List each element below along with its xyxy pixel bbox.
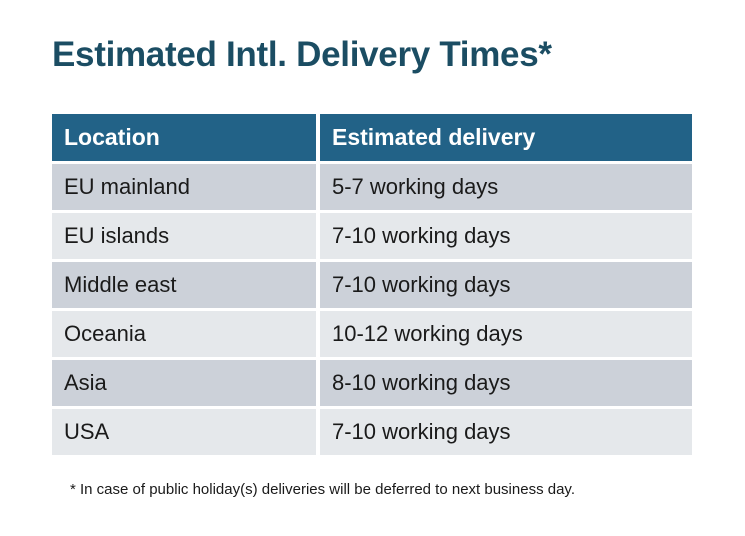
cell-estimated-delivery: 10-12 working days: [320, 311, 692, 357]
table-row: EU islands 7-10 working days: [52, 213, 692, 259]
cell-estimated-delivery: 5-7 working days: [320, 164, 692, 210]
cell-estimated-delivery: 7-10 working days: [320, 409, 692, 455]
cell-estimated-delivery: 7-10 working days: [320, 262, 692, 308]
delivery-times-table: Location Estimated delivery EU mainland …: [52, 114, 692, 455]
table-row: USA 7-10 working days: [52, 409, 692, 455]
cell-location: EU islands: [52, 213, 316, 259]
cell-location: Middle east: [52, 262, 316, 308]
cell-location: Asia: [52, 360, 316, 406]
delivery-times-page: Estimated Intl. Delivery Times* Location…: [0, 0, 745, 536]
cell-location: EU mainland: [52, 164, 316, 210]
cell-estimated-delivery: 8-10 working days: [320, 360, 692, 406]
footnote: * In case of public holiday(s) deliverie…: [70, 481, 575, 498]
cell-estimated-delivery: 7-10 working days: [320, 213, 692, 259]
cell-location: USA: [52, 409, 316, 455]
table-row: EU mainland 5-7 working days: [52, 164, 692, 210]
cell-location: Oceania: [52, 311, 316, 357]
page-title: Estimated Intl. Delivery Times*: [52, 36, 552, 75]
column-header-estimated-delivery: Estimated delivery: [320, 114, 692, 161]
table-row: Asia 8-10 working days: [52, 360, 692, 406]
table-row: Oceania 10-12 working days: [52, 311, 692, 357]
column-header-location: Location: [52, 114, 316, 161]
table-header-row: Location Estimated delivery: [52, 114, 692, 161]
table-row: Middle east 7-10 working days: [52, 262, 692, 308]
